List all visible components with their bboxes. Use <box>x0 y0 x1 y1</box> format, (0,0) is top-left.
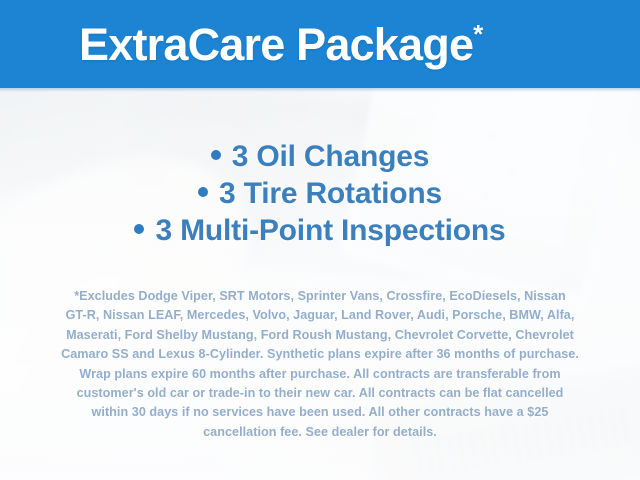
bullet-dot-icon <box>198 187 208 197</box>
page-title-asterisk: * <box>473 19 483 49</box>
disclaimer-line: cancellation fee. See dealer for details… <box>26 423 614 442</box>
disclaimer-line: customer's old car or trade-in to their … <box>26 384 614 403</box>
disclaimer-line: Camaro SS and Lexus 8-Cylinder. Syntheti… <box>26 345 614 364</box>
disclaimer-line: Maserati, Ford Shelby Mustang, Ford Rous… <box>26 326 614 345</box>
benefit-item: 3 Multi-Point Inspections <box>0 212 640 249</box>
benefit-item: 3 Tire Rotations <box>0 175 640 212</box>
benefit-item: 3 Oil Changes <box>0 138 640 175</box>
disclaimer-line: *Excludes Dodge Viper, SRT Motors, Sprin… <box>26 287 614 306</box>
bullet-dot-icon <box>134 224 144 234</box>
disclaimer-line: GT-R, Nissan LEAF, Mercedes, Volvo, Jagu… <box>26 306 614 325</box>
bullet-dot-icon <box>211 150 221 160</box>
disclaimer-line: within 30 days if no services have been … <box>26 403 614 422</box>
disclaimer-line: Wrap plans expire 60 months after purcha… <box>26 365 614 384</box>
page-title-text: ExtraCare Package <box>79 19 473 70</box>
header-band: ExtraCare Package* <box>0 0 640 88</box>
benefit-item-label: 3 Tire Rotations <box>219 177 442 210</box>
benefits-list: 3 Oil Changes 3 Tire Rotations 3 Multi-P… <box>0 138 640 249</box>
benefit-item-label: 3 Multi-Point Inspections <box>155 214 505 247</box>
extracare-promo-card: ExtraCare Package* 3 Oil Changes 3 Tire … <box>0 0 640 480</box>
page-title: ExtraCare Package* <box>0 21 483 67</box>
header-underline <box>0 88 640 92</box>
benefit-item-label: 3 Oil Changes <box>232 140 429 173</box>
disclaimer-text: *Excludes Dodge Viper, SRT Motors, Sprin… <box>26 287 614 442</box>
